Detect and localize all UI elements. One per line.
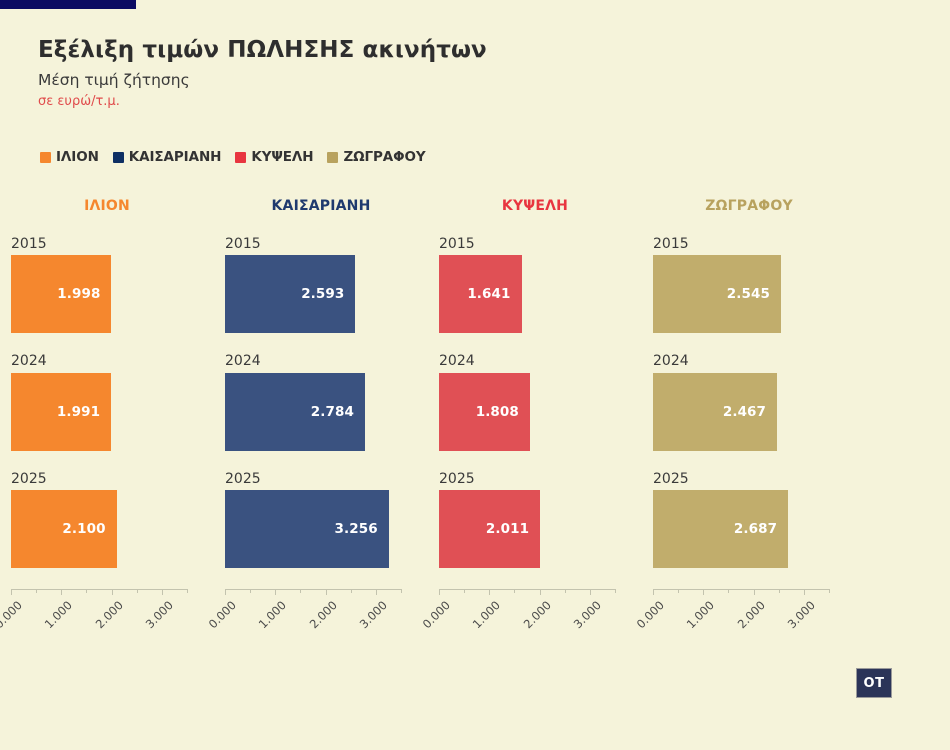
legend-item-label: ΚΑΙΣΑΡΙΑΝΗ	[129, 149, 222, 165]
x-axis-tick-label: 1.000	[465, 598, 503, 636]
bar-group: 20241.808	[428, 354, 642, 450]
bar-value-label: 1.641	[467, 286, 521, 302]
x-axis-line	[225, 589, 401, 590]
ot-logo: OT	[856, 668, 892, 698]
bar[interactable]: 2.545	[653, 255, 781, 333]
x-axis-tick-label: 2.000	[301, 598, 339, 636]
panel-title: ΚΥΨΕΛΗ	[428, 198, 642, 220]
ot-logo-text: OT	[864, 676, 885, 691]
legend-item-4[interactable]: ΖΩΓΡΑΦΟΥ	[327, 149, 425, 165]
bar-group-year-label: 2015	[653, 237, 856, 252]
panel-bar-groups: 20152.54520242.46720252.687	[642, 237, 856, 568]
x-axis-tick-minor	[464, 589, 465, 593]
x-axis-tick-label: 3.000	[352, 598, 390, 636]
chart-panel-4: ΖΩΓΡΑΦΟΥ20152.54520242.46720252.6870.000…	[642, 198, 856, 641]
bar-track: 2.011	[439, 490, 642, 568]
legend-swatch-icon	[113, 152, 124, 163]
panel-bar-groups: 20151.64120241.80820252.011	[428, 237, 642, 568]
bar-group-year-label: 2025	[439, 472, 642, 487]
bar-value-label: 1.808	[476, 404, 530, 420]
x-axis-tick-label: 2.000	[87, 598, 125, 636]
x-axis-tick-minor	[351, 589, 352, 593]
x-axis: 0.0001.0002.0003.000	[439, 589, 642, 641]
bar[interactable]: 2.687	[653, 490, 788, 568]
x-axis-tick-minor	[565, 589, 566, 593]
x-axis-tick-minor	[401, 589, 402, 593]
x-axis-tick-minor	[137, 589, 138, 593]
legend-item-2[interactable]: ΚΑΙΣΑΡΙΑΝΗ	[113, 149, 222, 165]
chart-panels: ΙΛΙΟΝ20151.99820241.99120252.1000.0001.0…	[0, 198, 950, 641]
chart-legend: ΙΛΙΟΝΚΑΙΣΑΡΙΑΝΗΚΥΨΕΛΗΖΩΓΡΑΦΟΥ	[40, 149, 426, 165]
bar-group: 20252.687	[642, 472, 856, 568]
x-axis-tick-label: 1.000	[679, 598, 717, 636]
bar-group: 20252.011	[428, 472, 642, 568]
legend-item-label: ΙΛΙΟΝ	[56, 149, 99, 165]
panel-title: ΚΑΙΣΑΡΙΑΝΗ	[214, 198, 428, 220]
bar-track: 1.998	[11, 255, 214, 333]
bar-group-year-label: 2025	[653, 472, 856, 487]
x-axis-tick-major	[540, 589, 541, 595]
x-axis-tick-label: 1.000	[251, 598, 289, 636]
x-axis-tick-minor	[250, 589, 251, 593]
x-axis-tick-major	[112, 589, 113, 595]
x-axis-tick-label: 2.000	[729, 598, 767, 636]
x-axis-tick-label: 3.000	[138, 598, 176, 636]
bar-group-year-label: 2015	[225, 237, 428, 252]
bar-value-label: 2.011	[486, 521, 540, 537]
chart-header: Εξέλιξη τιμών ΠΩΛΗΣΗΣ ακινήτων Μέση τιμή…	[38, 38, 738, 110]
legend-item-label: ΚΥΨΕΛΗ	[251, 149, 313, 165]
bar-group-year-label: 2024	[439, 354, 642, 369]
page-title: Εξέλιξη τιμών ΠΩΛΗΣΗΣ ακινήτων	[38, 38, 738, 63]
bar-group-year-label: 2025	[11, 472, 214, 487]
x-axis-tick-minor	[36, 589, 37, 593]
bar-group-year-label: 2025	[225, 472, 428, 487]
bar-track: 2.467	[653, 373, 856, 451]
x-axis-tick-minor	[728, 589, 729, 593]
chart-units-label: σε ευρώ/τ.μ.	[38, 95, 738, 109]
bar[interactable]: 2.011	[439, 490, 540, 568]
x-axis-tick-label: 3.000	[780, 598, 818, 636]
bar-value-label: 2.784	[311, 404, 365, 420]
bar-track: 2.100	[11, 490, 214, 568]
bar[interactable]: 1.808	[439, 373, 530, 451]
x-axis: 0.0001.0002.0003.000	[11, 589, 214, 641]
panel-bar-groups: 20151.99820241.99120252.100	[0, 237, 214, 568]
legend-item-3[interactable]: ΚΥΨΕΛΗ	[235, 149, 313, 165]
bar-track: 1.808	[439, 373, 642, 451]
x-axis-tick-major	[376, 589, 377, 595]
x-axis-tick-major	[653, 589, 654, 595]
panel-title: ΙΛΙΟΝ	[0, 198, 214, 220]
bar-group: 20253.256	[214, 472, 428, 568]
x-axis: 0.0001.0002.0003.000	[653, 589, 856, 641]
bar-track: 2.593	[225, 255, 428, 333]
x-axis-tick-label: 0.000	[0, 598, 25, 636]
bar-value-label: 2.100	[62, 521, 116, 537]
chart-panel-1: ΙΛΙΟΝ20151.99820241.99120252.1000.0001.0…	[0, 198, 214, 641]
panel-title: ΖΩΓΡΑΦΟΥ	[642, 198, 856, 220]
bar-track: 2.545	[653, 255, 856, 333]
bar-track: 1.641	[439, 255, 642, 333]
legend-item-1[interactable]: ΙΛΙΟΝ	[40, 149, 99, 165]
legend-item-label: ΖΩΓΡΑΦΟΥ	[343, 149, 425, 165]
bar-value-label: 2.545	[727, 286, 781, 302]
x-axis-tick-major	[489, 589, 490, 595]
bar-value-label: 1.998	[57, 286, 111, 302]
x-axis-tick-minor	[514, 589, 515, 593]
bar[interactable]: 2.100	[11, 490, 117, 568]
x-axis-tick-minor	[829, 589, 830, 593]
x-axis-tick-label: 1.000	[37, 598, 75, 636]
chart-panel-2: ΚΑΙΣΑΡΙΑΝΗ20152.59320242.78420253.2560.0…	[214, 198, 428, 641]
legend-swatch-icon	[327, 152, 338, 163]
bar-group-year-label: 2015	[439, 237, 642, 252]
x-axis-tick-major	[11, 589, 12, 595]
bar-value-label: 1.991	[57, 404, 111, 420]
bar[interactable]: 1.998	[11, 255, 111, 333]
x-axis-tick-minor	[678, 589, 679, 593]
bar-value-label: 2.593	[301, 286, 355, 302]
x-axis-tick-major	[326, 589, 327, 595]
bar-group-year-label: 2015	[11, 237, 214, 252]
x-axis-line	[439, 589, 615, 590]
x-axis-tick-major	[703, 589, 704, 595]
x-axis: 0.0001.0002.0003.000	[225, 589, 428, 641]
bar-track: 3.256	[225, 490, 428, 568]
bar[interactable]: 2.467	[653, 373, 777, 451]
legend-swatch-icon	[235, 152, 246, 163]
bar-track: 2.687	[653, 490, 856, 568]
x-axis-tick-major	[275, 589, 276, 595]
x-axis-tick-minor	[779, 589, 780, 593]
x-axis-tick-major	[61, 589, 62, 595]
bar-group-year-label: 2024	[11, 354, 214, 369]
x-axis-tick-major	[590, 589, 591, 595]
bar-value-label: 2.467	[723, 404, 777, 420]
bar[interactable]: 2.784	[225, 373, 365, 451]
x-axis-tick-major	[439, 589, 440, 595]
chart-panel-3: ΚΥΨΕΛΗ20151.64120241.80820252.0110.0001.…	[428, 198, 642, 641]
chart-subtitle: Μέση τιμή ζήτησης	[38, 72, 738, 89]
x-axis-tick-major	[754, 589, 755, 595]
bar-track: 1.991	[11, 373, 214, 451]
bar-group: 20242.784	[214, 354, 428, 450]
bar[interactable]: 2.593	[225, 255, 355, 333]
x-axis-tick-major	[162, 589, 163, 595]
bar[interactable]: 3.256	[225, 490, 389, 568]
x-axis-tick-label: 2.000	[515, 598, 553, 636]
bar-value-label: 3.256	[335, 521, 389, 537]
x-axis-tick-minor	[300, 589, 301, 593]
bar-group: 20151.998	[0, 237, 214, 333]
bar-group: 20241.991	[0, 354, 214, 450]
bar-group: 20152.593	[214, 237, 428, 333]
x-axis-tick-label: 3.000	[566, 598, 604, 636]
bar[interactable]: 1.991	[11, 373, 111, 451]
bar-group: 20252.100	[0, 472, 214, 568]
x-axis-tick-minor	[615, 589, 616, 593]
bar-group-year-label: 2024	[225, 354, 428, 369]
x-axis-tick-major	[225, 589, 226, 595]
bar-group-year-label: 2024	[653, 354, 856, 369]
bar[interactable]: 1.641	[439, 255, 522, 333]
x-axis-tick-minor	[86, 589, 87, 593]
bar-group: 20242.467	[642, 354, 856, 450]
panel-bar-groups: 20152.59320242.78420253.256	[214, 237, 428, 568]
x-axis-tick-minor	[187, 589, 188, 593]
brand-accent-bar	[0, 0, 136, 9]
x-axis-line	[653, 589, 829, 590]
bar-value-label: 2.687	[734, 521, 788, 537]
x-axis-line	[11, 589, 187, 590]
legend-swatch-icon	[40, 152, 51, 163]
bar-group: 20152.545	[642, 237, 856, 333]
bar-group: 20151.641	[428, 237, 642, 333]
bar-track: 2.784	[225, 373, 428, 451]
x-axis-tick-major	[804, 589, 805, 595]
